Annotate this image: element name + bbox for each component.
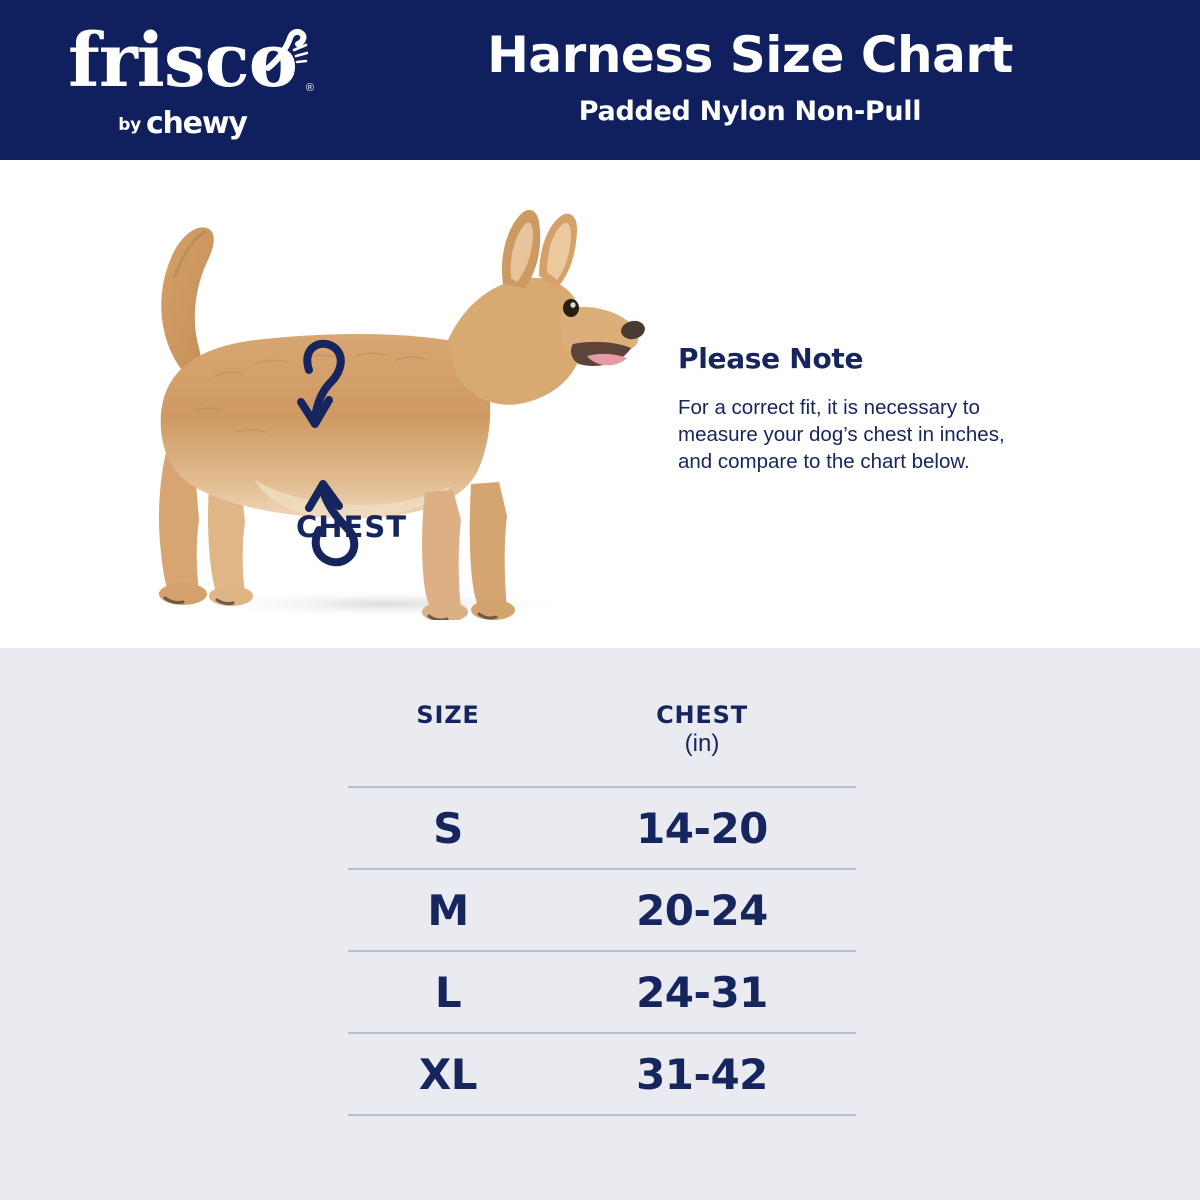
cell-size: XL [348, 1033, 548, 1115]
column-header-chest-label: CHEST [548, 700, 856, 730]
column-header-size: SIZE [348, 700, 548, 787]
column-header-chest: CHEST (in) [548, 700, 856, 787]
column-header-size-label: SIZE [348, 700, 548, 730]
note-heading: Please Note [678, 342, 1078, 376]
cell-size: L [348, 951, 548, 1033]
registered-trademark-icon: ® [306, 82, 314, 94]
logo-by-text: by [118, 115, 141, 135]
table-row: L 24-31 [348, 951, 856, 1033]
table-row: M 20-24 [348, 869, 856, 951]
cell-chest: 31-42 [548, 1033, 856, 1115]
cell-chest: 24-31 [548, 951, 856, 1033]
column-header-chest-unit: (in) [548, 730, 856, 758]
table-head: SIZE CHEST (in) [348, 700, 856, 787]
cell-chest: 20-24 [548, 869, 856, 951]
table-body: S 14-20 M 20-24 L 24-31 XL 31-42 [348, 787, 856, 1115]
size-chart-table: SIZE CHEST (in) S 14-20 M 20-24 [348, 700, 856, 1116]
table-header-row: SIZE CHEST (in) [348, 700, 856, 787]
logo-swoosh-icon [262, 28, 308, 80]
table-row: S 14-20 [348, 787, 856, 869]
table-row: XL 31-42 [348, 1033, 856, 1115]
cell-size: M [348, 869, 548, 951]
chest-measurement-label: CHEST [296, 510, 407, 544]
cell-size: S [348, 787, 548, 869]
size-chart-page: frisco ® bychewy Harness Size Chart Padd… [0, 0, 1200, 1200]
dog-photo [95, 180, 655, 620]
cell-chest: 14-20 [548, 787, 856, 869]
illustration-panel: CHEST Please Note For a correct fit, it … [0, 160, 1200, 648]
size-table-panel: SIZE CHEST (in) S 14-20 M 20-24 [0, 648, 1200, 1200]
page-subtitle: Padded Nylon Non-Pull [330, 95, 1170, 129]
please-note-block: Please Note For a correct fit, it is nec… [678, 342, 1078, 475]
logo-byline: bychewy [55, 106, 310, 141]
note-body: For a correct fit, it is necessary to me… [678, 394, 1078, 475]
logo-chewy-text: chewy [146, 106, 247, 141]
header-band: frisco ® bychewy Harness Size Chart Padd… [0, 0, 1200, 160]
frisco-logo: frisco ® bychewy [55, 22, 310, 140]
page-title: Harness Size Chart [330, 26, 1170, 84]
